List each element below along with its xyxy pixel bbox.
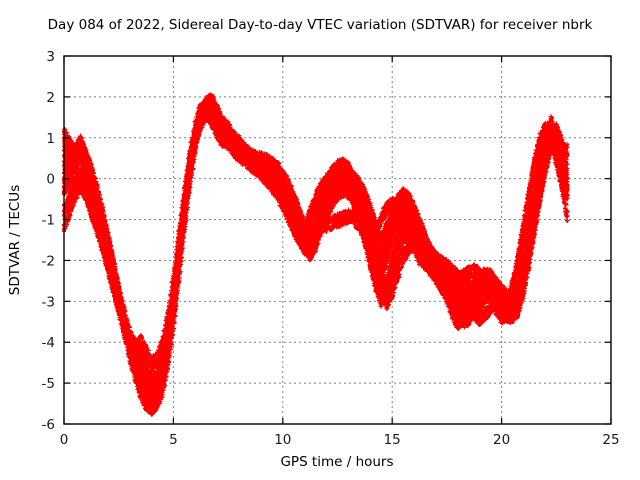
svg-text:0: 0	[60, 432, 69, 448]
svg-text:10: 10	[274, 432, 291, 448]
svg-text:-4: -4	[42, 335, 55, 351]
svg-text:25: 25	[602, 432, 619, 448]
svg-text:-3: -3	[42, 294, 55, 310]
svg-text:-6: -6	[42, 417, 55, 433]
svg-text:1: 1	[46, 131, 55, 147]
svg-text:2: 2	[46, 90, 55, 106]
svg-text:0: 0	[46, 172, 55, 188]
svg-text:-5: -5	[42, 376, 55, 392]
svg-text:5: 5	[169, 432, 178, 448]
svg-text:-1: -1	[42, 213, 55, 229]
chart-page: Day 084 of 2022, Sidereal Day-to-day VTE…	[0, 0, 640, 480]
svg-text:20: 20	[493, 432, 510, 448]
svg-text:15: 15	[384, 432, 401, 448]
data-points	[62, 92, 570, 417]
x-axis-label: GPS time / hours	[280, 454, 393, 470]
svg-text:-2: -2	[42, 253, 55, 269]
y-axis-label: SDTVAR / TECUs	[7, 185, 23, 295]
svg-text:3: 3	[46, 49, 55, 65]
sdtvar-scatter-plot: -6-5-4-3-2-101230510152025 GPS time / ho…	[0, 0, 640, 480]
